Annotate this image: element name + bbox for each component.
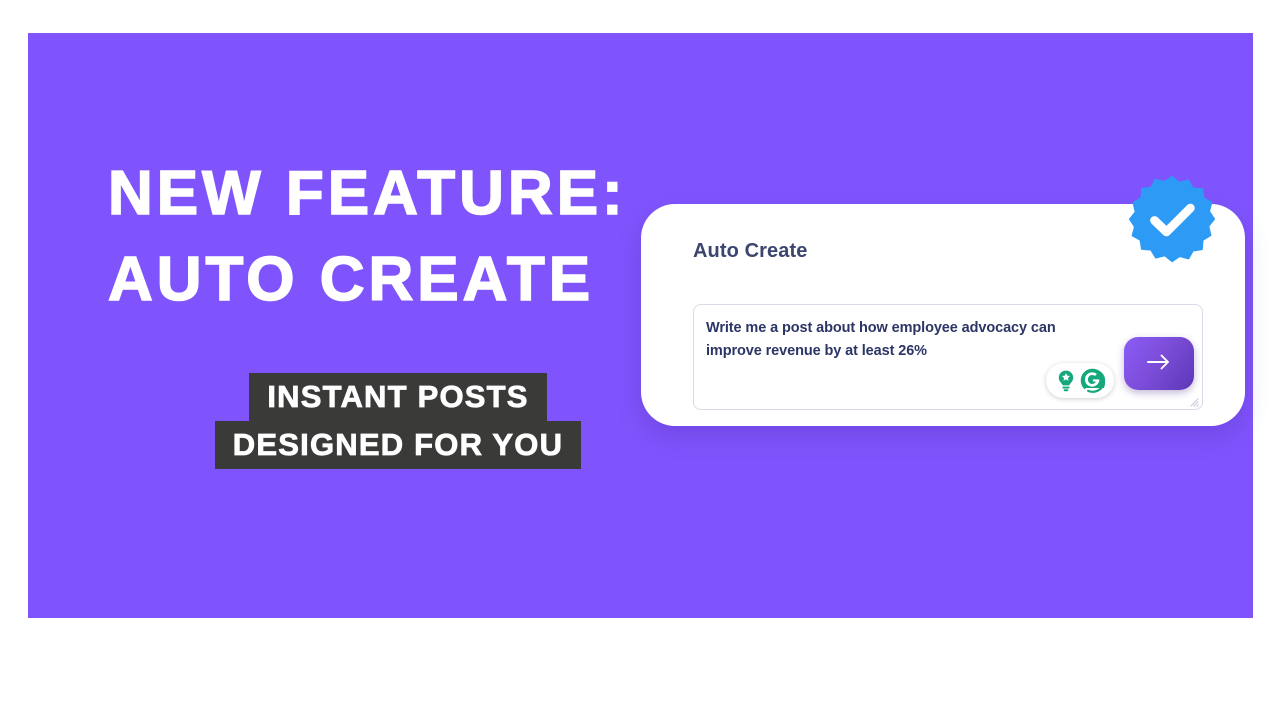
submit-prompt-button[interactable] — [1124, 337, 1194, 390]
headline-line-1: New Feature: — [108, 151, 648, 237]
lightbulb-idea-icon[interactable] — [1055, 369, 1077, 393]
card-title: Auto Create — [693, 240, 807, 263]
resize-grip-icon[interactable] — [1187, 394, 1199, 406]
promo-banner: New Feature: Auto Create Instant Posts D… — [28, 33, 1253, 618]
headline: New Feature: Auto Create — [108, 151, 648, 323]
subheadline-line-2: Designed For You — [215, 421, 581, 469]
slide-canvas: New Feature: Auto Create Instant Posts D… — [0, 0, 1280, 720]
prompt-text-value: Write me a post about how employee advoc… — [706, 317, 1106, 363]
grammarly-icon[interactable] — [1080, 368, 1105, 393]
headline-line-2: Auto Create — [108, 237, 648, 323]
arrow-right-icon — [1144, 353, 1174, 374]
subheadline: Instant Posts Designed For You — [138, 373, 658, 469]
subheadline-line-1: Instant Posts — [249, 373, 546, 421]
writing-assistant-pill[interactable] — [1046, 363, 1114, 398]
verified-badge-icon — [1126, 174, 1218, 266]
